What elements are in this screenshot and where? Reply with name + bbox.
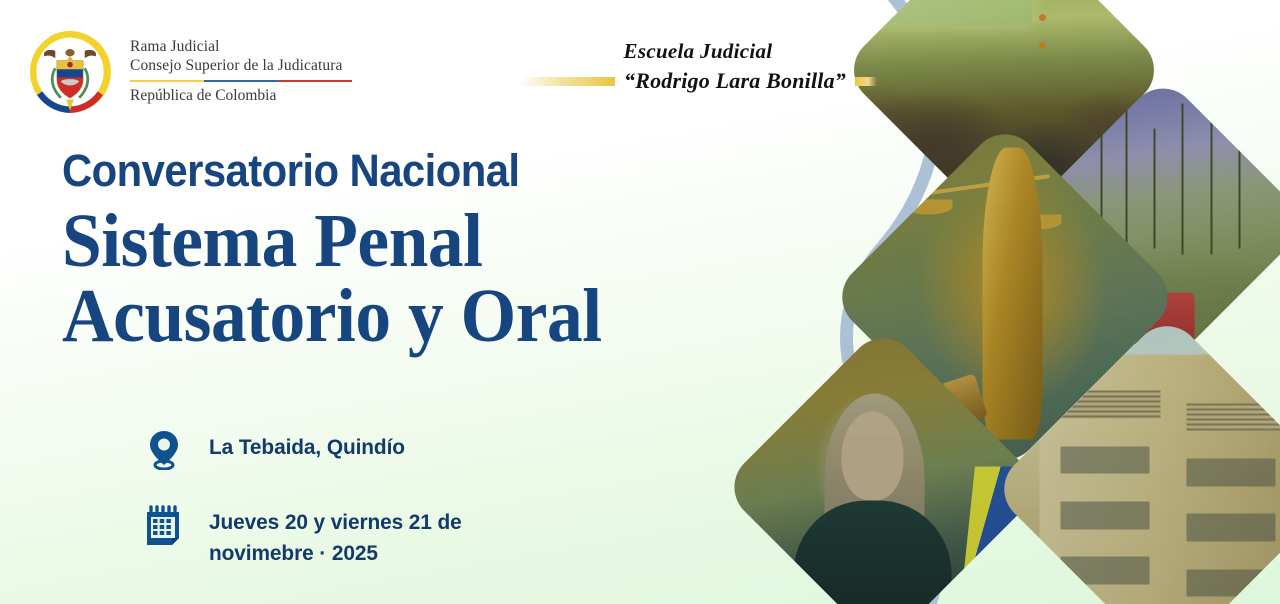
location-row: La Tebaida, Quindío — [143, 428, 479, 470]
date-row: Jueves 20 y viernes 21 de novimebre · 20… — [143, 503, 479, 568]
tricolor-yellow — [130, 80, 204, 83]
event-title: Sistema Penal Acusatorio y Oral — [62, 204, 664, 354]
logo-text-block: Rama Judicial Consejo Superior de la Jud… — [130, 38, 352, 106]
event-title-line-2: Acusatorio y Oral — [62, 279, 664, 354]
tricolor-divider — [130, 80, 352, 83]
date-text: Jueves 20 y viernes 21 de novimebre · 20… — [209, 503, 471, 568]
rama-judicial-logo: Rama Judicial Consejo Superior de la Jud… — [24, 26, 352, 118]
logo-line-3: República de Colombia — [130, 87, 352, 106]
tricolor-blue — [204, 80, 278, 83]
gold-rule-left-icon — [519, 77, 615, 86]
escuela-line-1: Escuela Judicial — [498, 38, 898, 66]
event-title-line-1: Sistema Penal — [62, 204, 664, 279]
date-line-2: novimebre · 2025 — [209, 541, 378, 565]
colombia-coat-of-arms-roundel — [24, 26, 116, 118]
map-pin-icon — [143, 428, 185, 470]
gold-rule-right-icon — [855, 77, 877, 86]
escuela-judicial-wordmark: Escuela Judicial “Rodrigo Lara Bonilla” — [498, 38, 898, 95]
event-kicker: Conversatorio Nacional — [62, 148, 657, 193]
poster-canvas: Rama Judicial Consejo Superior de la Jud… — [0, 0, 1280, 604]
calendar-icon — [143, 503, 185, 547]
location-text: La Tebaida, Quindío — [209, 428, 405, 463]
date-line-1: Jueves 20 y viernes 21 de — [209, 510, 462, 534]
escuela-line-2: “Rodrigo Lara Bonilla” — [624, 67, 846, 96]
logo-line-1: Rama Judicial — [130, 38, 352, 57]
tricolor-red — [278, 80, 352, 83]
event-details: La Tebaida, Quindío Jueves 20 y viern — [143, 428, 479, 568]
headline-block: Conversatorio Nacional Sistema Penal Acu… — [62, 148, 702, 354]
logo-line-2: Consejo Superior de la Judicatura — [130, 57, 352, 76]
